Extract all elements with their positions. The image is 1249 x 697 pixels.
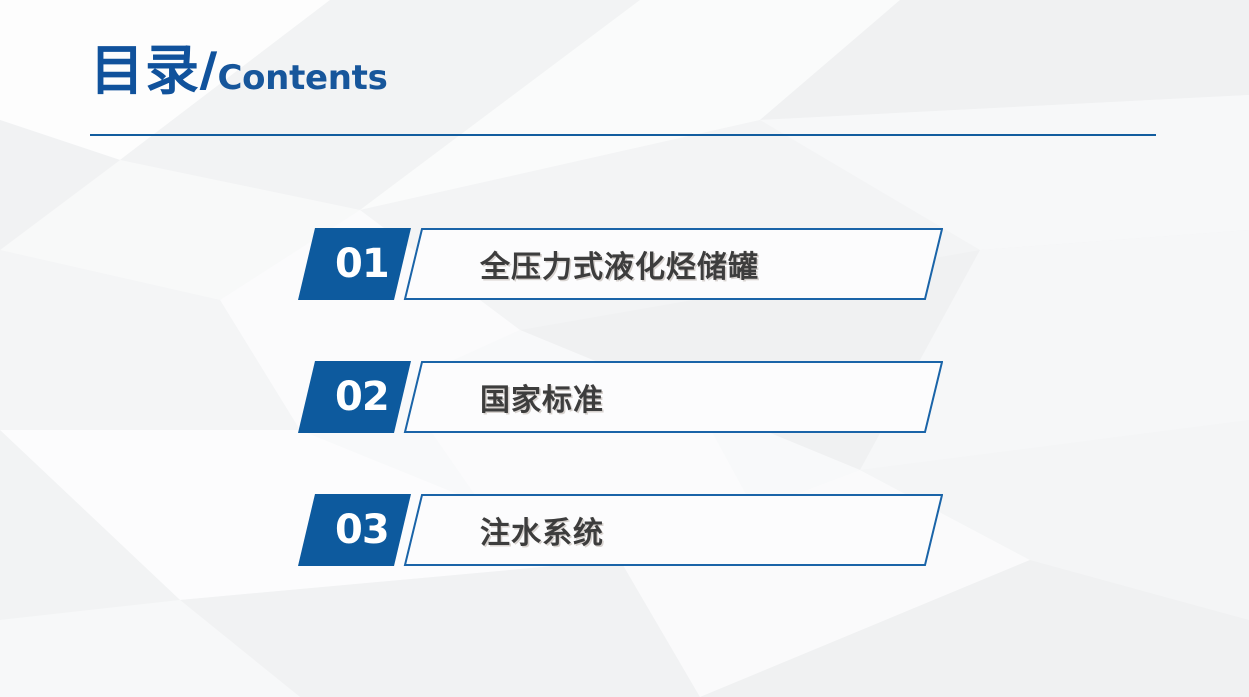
content-row-shape — [298, 361, 943, 433]
content-row-shape — [298, 228, 943, 300]
list-item[interactable]: 03 注水系统 — [298, 494, 943, 566]
contents-slide: 目录 / Contents 01 全压力式液化烃储罐 02 国家标准 — [0, 0, 1249, 697]
content-row-shape — [298, 494, 943, 566]
number-badge-shape — [298, 361, 411, 433]
contents-list: 01 全压力式液化烃储罐 02 国家标准 03 注水系统 — [0, 0, 1249, 697]
number-badge-shape — [298, 228, 411, 300]
label-panel-shape — [405, 229, 942, 299]
label-panel-shape — [405, 362, 942, 432]
number-badge-shape — [298, 494, 411, 566]
label-panel-shape — [405, 495, 942, 565]
list-item[interactable]: 01 全压力式液化烃储罐 — [298, 228, 943, 300]
list-item[interactable]: 02 国家标准 — [298, 361, 943, 433]
